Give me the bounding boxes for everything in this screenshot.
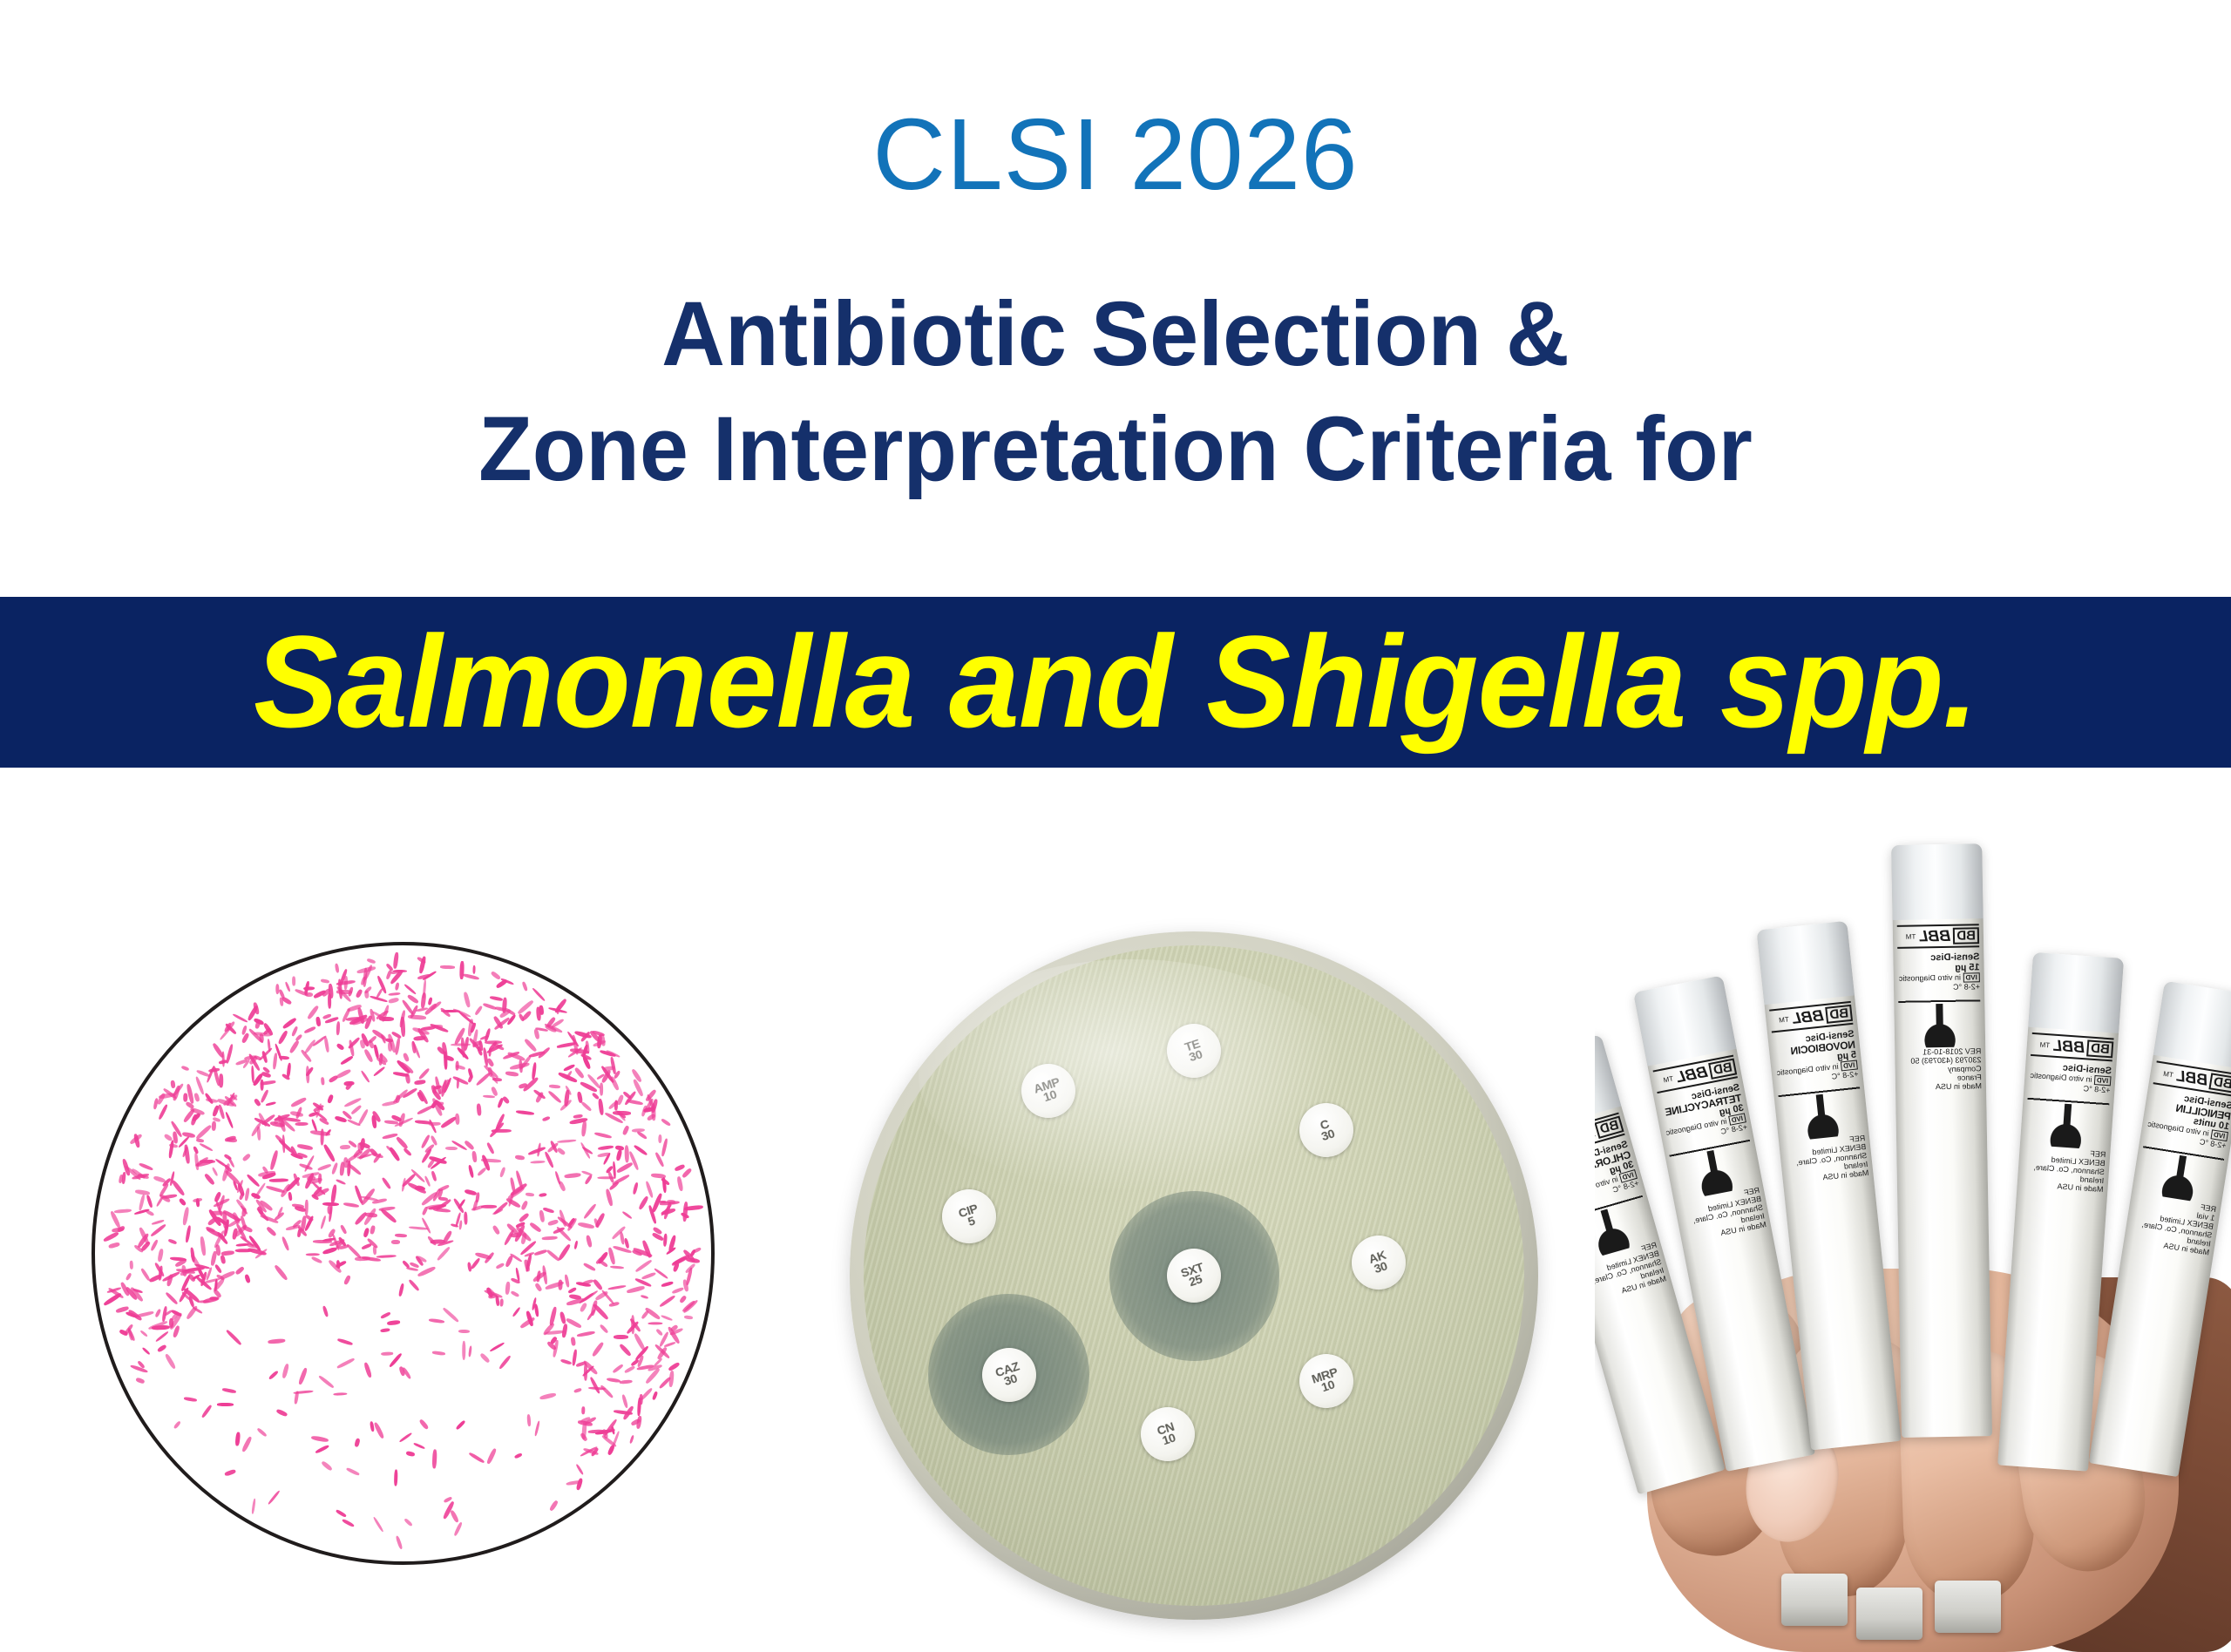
antibiotic-disk[interactable]: CAZ30 <box>982 1348 1036 1402</box>
gram-negative-rod <box>577 1222 593 1229</box>
gram-negative-rod <box>103 1231 119 1242</box>
gram-negative-rod <box>499 1167 506 1177</box>
gram-negative-rod <box>206 1098 218 1103</box>
gram-negative-rod <box>468 1452 485 1464</box>
gram-negative-rod <box>351 1105 363 1115</box>
gram-negative-rod <box>462 1341 465 1360</box>
gram-negative-rod <box>340 1225 347 1235</box>
gram-negative-rod <box>429 1119 437 1134</box>
gram-negative-rod <box>624 1365 635 1374</box>
gram-negative-rod <box>139 1330 148 1337</box>
antibiotic-disk[interactable]: TE30 <box>1167 1024 1221 1078</box>
gram-negative-rod <box>529 1222 542 1233</box>
gram-negative-rod <box>297 1228 302 1236</box>
gram-stain-figure <box>92 942 715 1565</box>
gram-negative-rod <box>135 1189 150 1196</box>
gram-negative-rod <box>363 1362 373 1378</box>
gram-negative-rod <box>284 981 291 992</box>
gram-negative-rod <box>421 1217 431 1234</box>
gram-negative-rod <box>432 1449 437 1468</box>
antibiotic-disk[interactable]: CN10 <box>1141 1407 1195 1461</box>
gram-negative-rod <box>268 1338 286 1344</box>
gram-negative-rod <box>546 1249 560 1262</box>
gram-negative-rod <box>635 1259 653 1272</box>
gram-negative-rod <box>114 1209 132 1214</box>
gram-negative-rod <box>514 1452 523 1459</box>
gram-negative-rod <box>225 1112 234 1129</box>
gram-negative-rod <box>220 1255 227 1264</box>
gram-negative-rod <box>146 1195 153 1209</box>
gram-negative-rod <box>516 1109 534 1114</box>
gram-negative-rod <box>440 965 455 968</box>
gram-negative-rod <box>327 1094 334 1104</box>
gram-negative-rod <box>526 1193 535 1197</box>
gram-negative-rod <box>373 1422 384 1439</box>
gram-negative-rod <box>605 1188 614 1207</box>
gram-negative-rod <box>636 1131 648 1141</box>
gram-negative-rod <box>606 1378 620 1384</box>
bbl-wordmark: BBL <box>2174 1068 2208 1088</box>
gram-negative-rod <box>490 995 503 1000</box>
gram-negative-rod <box>288 1192 292 1201</box>
gram-negative-rod <box>530 1160 546 1163</box>
gram-negative-rod <box>317 1164 332 1172</box>
gram-negative-rod <box>394 1469 397 1486</box>
gram-negative-rod <box>222 1387 236 1392</box>
gram-negative-rod <box>201 1405 213 1418</box>
cartridge-usage-text: in vitro Diagnostic <box>1899 973 1961 983</box>
gram-negative-rod <box>336 1068 352 1080</box>
title-block: CLSI 2026 Antibiotic Selection & Zone In… <box>0 0 2231 597</box>
gram-negative-rod <box>141 1347 150 1356</box>
gram-negative-rod <box>168 1239 178 1245</box>
gram-negative-rod <box>557 1148 566 1156</box>
gram-negative-rod <box>370 1225 376 1234</box>
gram-negative-rod <box>203 1297 220 1304</box>
gram-negative-rod <box>464 992 471 1008</box>
antibiotic-disk-code: CAZ30 <box>994 1361 1024 1389</box>
gram-negative-rod <box>320 1215 327 1229</box>
gram-negative-rod <box>381 1351 393 1355</box>
gram-negative-rod <box>310 1256 322 1264</box>
sensi-disc-cartridge[interactable]: BDBBLTMSensi-Disc15 µgIVD in vitro Diagn… <box>1891 843 1992 1438</box>
gram-negative-rod <box>261 1071 272 1078</box>
headline-line-1: Antibiotic Selection & <box>44 277 2187 392</box>
gram-negative-rod <box>549 1307 558 1326</box>
gram-negative-rod <box>381 1101 397 1107</box>
gram-negative-rod <box>648 1322 662 1325</box>
gram-negative-rod <box>363 1228 370 1238</box>
antibiotic-disk[interactable]: C30 <box>1299 1103 1353 1157</box>
gram-negative-rod <box>610 1265 624 1269</box>
cartridge-origin: Made in USA <box>1900 1081 1982 1092</box>
gram-negative-rod <box>577 1330 595 1337</box>
gram-negative-rod <box>340 1145 350 1150</box>
gram-negative-rod <box>275 984 280 994</box>
antibiotic-disk[interactable]: AK30 <box>1352 1236 1406 1290</box>
gram-negative-rod <box>293 976 296 985</box>
gram-negative-rod <box>305 992 314 998</box>
gram-negative-rod <box>125 1272 132 1281</box>
cartridge-storage: +2-8 °C <box>1898 982 1980 992</box>
gram-negative-rod <box>268 1179 288 1182</box>
gram-negative-rod <box>483 1003 497 1011</box>
gram-negative-rod <box>641 1271 656 1280</box>
gram-negative-rod <box>372 1516 383 1533</box>
gram-negative-rod <box>376 1254 397 1258</box>
gram-negative-rod <box>692 1247 701 1254</box>
gram-negative-rod <box>336 1021 340 1035</box>
gram-negative-rod <box>465 1212 469 1225</box>
antibiotic-disk-code: C30 <box>1317 1118 1336 1142</box>
gram-negative-rod <box>305 1200 309 1215</box>
antibiotic-disk[interactable]: SXT25 <box>1167 1249 1221 1303</box>
gram-negative-rod <box>586 1235 593 1248</box>
gram-negative-rod <box>303 1026 315 1034</box>
gram-negative-rod <box>434 1025 443 1028</box>
gram-negative-rod <box>356 989 363 999</box>
gram-negative-rod <box>322 1247 337 1256</box>
gram-negative-rod <box>455 1060 459 1070</box>
gram-negative-rod <box>564 1274 570 1288</box>
gram-negative-rod <box>185 1225 192 1242</box>
antibiotic-disk[interactable]: MRP10 <box>1299 1354 1353 1408</box>
gram-negative-rod <box>456 1419 466 1430</box>
gram-negative-rod <box>571 1337 576 1345</box>
gram-negative-rod <box>622 1210 633 1219</box>
gram-negative-rod <box>393 952 399 969</box>
gram-negative-rod <box>318 1375 335 1389</box>
gram-negative-rod <box>334 1115 347 1123</box>
gram-negative-rod <box>472 965 476 973</box>
gram-negative-rod <box>152 1324 170 1330</box>
gram-negative-rod <box>305 1066 309 1083</box>
gram-negative-rod <box>463 973 479 980</box>
gram-negative-rod <box>600 1385 614 1398</box>
gram-negative-rod <box>331 1161 339 1175</box>
gram-negative-rod <box>490 1342 505 1352</box>
gram-negative-rod <box>599 1324 608 1335</box>
trademark-mark: TM <box>1779 1015 1789 1024</box>
gram-negative-rod <box>281 1363 289 1378</box>
gram-negative-rod <box>360 1070 370 1083</box>
gram-negative-rod <box>180 1065 189 1071</box>
gram-negative-rod <box>182 1207 190 1225</box>
gram-negative-rod <box>372 1246 376 1255</box>
gram-negative-rod <box>499 1299 504 1307</box>
headline-line-2: Zone Interpretation Criteria for <box>44 392 2187 507</box>
agar-plate-figure: TE30AMP10C30CIP5SXT25AK30CAZ30CN10MRP10 <box>850 931 1538 1620</box>
gram-negative-rod <box>581 1278 593 1285</box>
gram-negative-rod <box>539 1210 545 1222</box>
gram-negative-rod <box>281 1236 289 1251</box>
gram-negative-rod <box>542 1236 558 1240</box>
gram-negative-rod <box>539 1005 545 1014</box>
gram-negative-rod <box>261 1089 269 1103</box>
gram-negative-rod <box>450 1510 459 1524</box>
gram-negative-rod <box>652 1391 658 1400</box>
page-title-headline: Antibiotic Selection & Zone Interpretati… <box>44 277 2187 507</box>
gram-negative-rod <box>658 1134 662 1143</box>
swab-icon <box>2024 1094 2110 1150</box>
gram-negative-rod <box>612 1161 616 1179</box>
gram-negative-rod <box>196 1138 205 1142</box>
gram-negative-rod <box>170 1256 187 1262</box>
gram-negative-rod <box>577 1091 583 1103</box>
bd-logo: BD <box>1595 1115 1624 1138</box>
gram-negative-rod <box>380 1208 397 1223</box>
gram-negative-rod <box>355 1438 361 1447</box>
gram-negative-rod <box>524 1039 537 1053</box>
gram-negative-rod <box>598 1099 604 1116</box>
trademark-mark: TM <box>1663 1074 1674 1084</box>
gram-negative-rod <box>398 1432 412 1443</box>
gram-negative-rod <box>403 1052 410 1061</box>
gram-negative-rod <box>298 1368 308 1385</box>
gram-negative-rod <box>154 1309 161 1318</box>
figure-row: TE30AMP10C30CIP5SXT25AK30CAZ30CN10MRP10 … <box>0 768 2231 1652</box>
gram-negative-rod <box>633 1145 648 1157</box>
gram-negative-rod <box>491 971 501 980</box>
gram-negative-rod <box>408 1014 426 1019</box>
petri-dish-rim: TE30AMP10C30CIP5SXT25AK30CAZ30CN10MRP10 <box>850 931 1538 1620</box>
gram-negative-rod <box>443 1307 459 1323</box>
gram-negative-rod <box>150 1239 159 1251</box>
gram-negative-rod <box>602 1418 617 1437</box>
swab-icon <box>1898 996 1981 1048</box>
antibiotic-disk-code: AMP10 <box>1033 1076 1064 1105</box>
gram-negative-rod <box>432 1351 445 1355</box>
gram-negative-rod <box>409 1226 428 1230</box>
gram-negative-rod <box>381 1312 391 1319</box>
gram-negative-rod <box>668 1361 681 1371</box>
gram-negative-rod <box>661 1138 669 1156</box>
gram-negative-rod <box>235 1266 245 1275</box>
gram-negative-rod <box>138 1194 146 1211</box>
gram-negative-rod <box>267 1490 280 1506</box>
gram-negative-rod <box>389 1146 401 1161</box>
gram-negative-rod <box>241 1435 253 1452</box>
microscope-field-circle <box>92 942 715 1565</box>
trademark-mark: TM <box>1906 933 1916 941</box>
gram-negative-rod <box>438 1185 450 1193</box>
gram-negative-rod <box>340 1055 354 1066</box>
gram-negative-rod <box>511 1290 519 1297</box>
gram-negative-rod <box>179 1197 187 1206</box>
gram-negative-rod <box>183 1093 187 1101</box>
gram-negative-rod <box>573 1240 578 1249</box>
bd-logo: BD <box>2209 1073 2231 1093</box>
gram-negative-rod <box>505 1255 514 1268</box>
gram-negative-rod <box>533 1421 540 1438</box>
gram-negative-rod <box>682 1168 692 1178</box>
gram-negative-rod <box>622 1126 630 1136</box>
gram-negative-rod <box>257 1427 268 1438</box>
gram-negative-rod <box>333 1391 348 1395</box>
gram-negative-rod <box>403 1148 412 1157</box>
gram-negative-rod <box>458 1330 470 1334</box>
gram-negative-rod <box>199 1142 213 1152</box>
organism-banner-label: Salmonella and Shigella spp. <box>33 612 2197 751</box>
gram-negative-rod <box>251 1499 256 1514</box>
gram-negative-rod <box>539 1392 557 1400</box>
gram-negative-rod <box>136 1377 146 1384</box>
gram-negative-rod <box>479 1353 490 1364</box>
gram-negative-rod <box>336 1043 345 1052</box>
gram-negative-rod <box>675 1164 686 1172</box>
gram-negative-rod <box>321 1078 324 1086</box>
gram-negative-rod <box>520 1200 529 1211</box>
gram-negative-rod <box>559 1358 572 1365</box>
gram-negative-rod <box>290 1110 304 1117</box>
cartridge-cap <box>1757 921 1855 1005</box>
bd-logo: BD <box>2086 1039 2113 1058</box>
gram-negative-rod <box>363 1048 374 1062</box>
gram-negative-rod <box>459 961 464 979</box>
gram-negative-rod <box>594 1132 612 1139</box>
gram-negative-rod <box>429 1318 445 1324</box>
gram-negative-rod <box>265 1101 275 1107</box>
cartridge-plug-3 <box>1935 1581 2001 1633</box>
gram-negative-rod <box>226 1329 242 1345</box>
gram-negative-rod <box>566 1317 582 1329</box>
gram-negative-rod <box>158 1104 168 1120</box>
gram-negative-rod <box>227 1137 237 1142</box>
gram-negative-rod <box>328 993 331 1010</box>
gram-negative-rod <box>155 1330 169 1343</box>
gram-negative-rod <box>268 1370 279 1380</box>
gram-negative-rod <box>419 1418 430 1430</box>
gram-negative-rod <box>194 1093 200 1102</box>
gram-negative-rod <box>413 1442 425 1450</box>
gram-negative-rod <box>510 1177 516 1192</box>
gram-negative-rod <box>497 1098 504 1109</box>
gram-negative-rod <box>220 1270 236 1281</box>
gram-negative-rod <box>245 1188 251 1202</box>
antibiotic-disk-code: CN10 <box>1156 1421 1179 1447</box>
bbl-wordmark: BBL <box>1918 929 1950 944</box>
gram-negative-rod <box>173 1420 181 1430</box>
gram-negative-rod <box>496 1263 505 1269</box>
gram-negative-rod <box>165 1291 178 1304</box>
gram-negative-rod <box>492 1129 512 1133</box>
gram-negative-rod <box>467 1164 474 1177</box>
gram-negative-rod <box>534 1249 547 1256</box>
gram-negative-rod <box>661 1118 671 1127</box>
gram-negative-rod <box>404 1073 410 1083</box>
gram-negative-rod <box>327 1206 331 1215</box>
gram-negative-rod <box>515 1155 525 1161</box>
gram-negative-rod <box>534 1303 539 1317</box>
gram-negative-rod <box>549 1500 559 1511</box>
gram-negative-rod <box>391 1240 400 1244</box>
gram-negative-rod <box>381 1133 397 1140</box>
antibiotic-disk[interactable]: AMP10 <box>1021 1064 1075 1118</box>
gram-negative-rod <box>417 1266 436 1278</box>
gram-negative-rod <box>592 1341 605 1357</box>
slide-root: CLSI 2026 Antibiotic Selection & Zone In… <box>0 0 2231 1652</box>
gram-negative-rod <box>581 1121 587 1137</box>
gram-negative-rod <box>638 1195 649 1210</box>
gram-negative-rod <box>574 1066 585 1079</box>
gram-negative-rod <box>431 1171 437 1182</box>
gram-negative-rod <box>379 1017 394 1021</box>
gram-negative-rod <box>483 1095 495 1099</box>
gram-negative-rod <box>184 1145 190 1164</box>
gram-negative-rod <box>612 1364 624 1374</box>
gram-negative-rod <box>403 1518 413 1527</box>
gram-negative-rod <box>584 1364 587 1381</box>
gram-negative-rod <box>336 1337 352 1345</box>
cartridge-plug-2 <box>1856 1588 1922 1640</box>
gram-negative-rod <box>214 1264 222 1274</box>
gram-negative-rod <box>465 1188 478 1195</box>
gram-negative-rod <box>322 1306 329 1317</box>
gram-negative-rod <box>170 1080 175 1088</box>
gram-negative-rod <box>584 1175 593 1186</box>
gram-negative-rod <box>619 1379 632 1384</box>
gram-negative-rod <box>396 1136 409 1149</box>
gram-negative-rod <box>581 1100 593 1111</box>
gram-negative-rod <box>661 1281 673 1287</box>
gram-negative-rod <box>306 1253 320 1256</box>
gram-negative-rod <box>288 1039 300 1053</box>
gram-negative-rod <box>203 1173 214 1186</box>
gram-negative-rod <box>129 1364 147 1374</box>
cartridge-brand-bar: BDBBLTM <box>2031 1032 2114 1061</box>
ivd-badge: IVD <box>1963 972 1980 982</box>
gram-negative-rod <box>217 1403 234 1406</box>
antibiotic-disk-code: MRP10 <box>1310 1367 1341 1396</box>
gram-negative-rod <box>221 1250 234 1256</box>
antibiotic-disk-code: SXT25 <box>1180 1262 1209 1290</box>
gram-negative-rod <box>218 1104 225 1119</box>
gram-negative-rod <box>565 1173 581 1179</box>
gram-negative-rod <box>386 1320 400 1325</box>
gram-negative-rod <box>559 1311 566 1324</box>
gram-negative-rod <box>321 1128 325 1145</box>
gram-negative-rod <box>259 1033 264 1043</box>
gram-negative-rod <box>336 1179 346 1186</box>
gram-negative-rod <box>676 1176 683 1191</box>
cartridge-cap <box>2153 981 2231 1069</box>
gram-negative-rod <box>468 1345 472 1357</box>
gram-negative-rod <box>324 1037 330 1053</box>
gram-negative-rod <box>680 1211 689 1218</box>
gram-negative-rod <box>321 1460 333 1472</box>
gram-negative-rod <box>343 1276 351 1286</box>
gram-negative-rod <box>335 964 340 974</box>
gram-negative-rod <box>582 1407 586 1415</box>
gram-negative-rod <box>409 1278 421 1291</box>
antibiotic-disk-code: AK30 <box>1367 1249 1390 1276</box>
gram-negative-rod <box>318 1174 322 1184</box>
gram-negative-rod <box>660 1315 672 1322</box>
gram-negative-rod <box>615 1149 622 1161</box>
gram-negative-rod <box>316 1017 322 1026</box>
gram-negative-rod <box>544 1151 554 1168</box>
gram-negative-rod <box>220 1074 224 1088</box>
gram-negative-rod <box>257 1127 261 1141</box>
gram-negative-rod <box>486 1141 495 1154</box>
gram-negative-rod <box>474 1005 483 1016</box>
antibiotic-disk[interactable]: CIP5 <box>942 1189 996 1243</box>
trademark-mark: TM <box>2039 1041 2050 1050</box>
trademark-mark: TM <box>2163 1070 2174 1080</box>
gram-negative-rod <box>343 976 348 990</box>
gram-negative-rod <box>614 1335 628 1339</box>
cartridge-cap <box>2028 952 2124 1033</box>
